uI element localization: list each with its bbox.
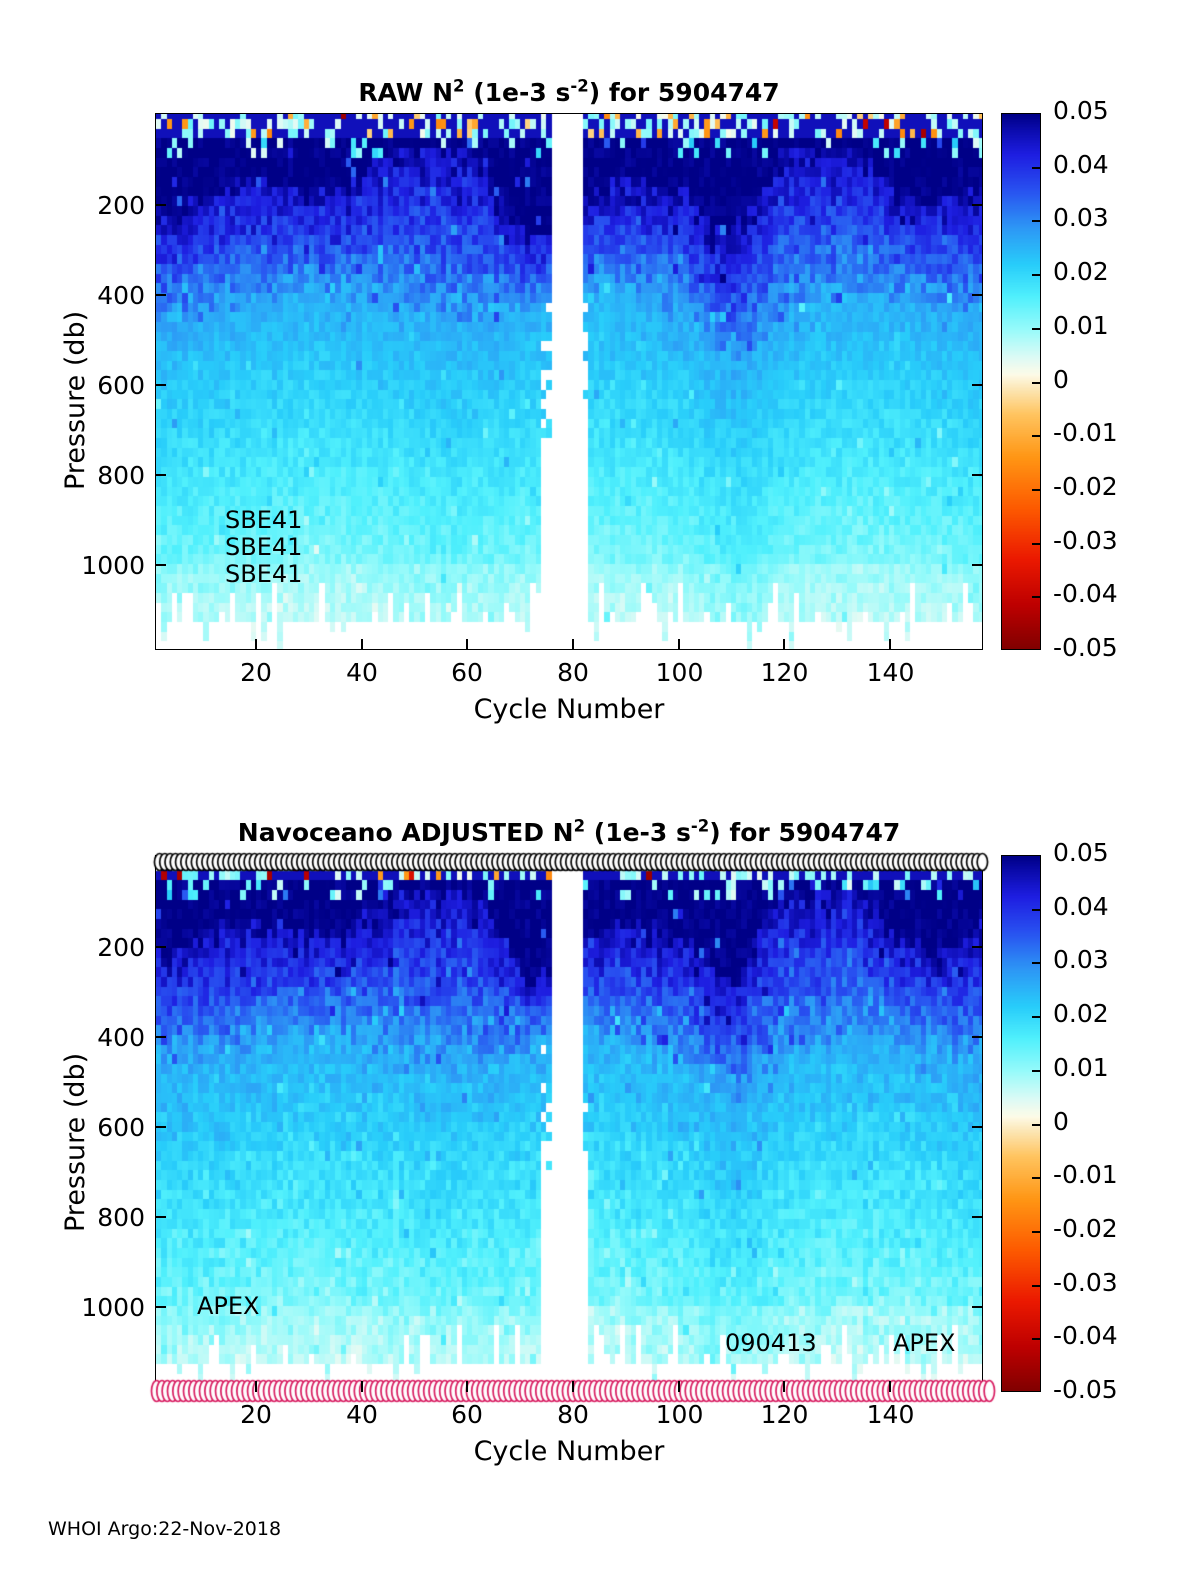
adj-ytick-mark-800 [155,1216,166,1218]
colorbar-tick-label: 0.03 [1053,945,1109,974]
colorbar-tick-mark [1032,909,1041,911]
adj-xtick-label-80: 80 [533,1400,613,1429]
colorbar-tick-mark [1032,1231,1041,1233]
colorbar-tick-label: 0.01 [1053,1053,1109,1082]
colorbar-tick-label: 0.05 [1053,838,1109,867]
adj-ytick-mark-right-200 [972,946,983,948]
colorbar-tick-mark [1032,962,1041,964]
adj-xtick-label-120: 120 [737,1400,832,1429]
colorbar-tick-label: 0.04 [1053,892,1109,921]
colorbar-tick-label: 0 [1053,1107,1069,1136]
figure-footer: WHOI Argo:22-Nov-2018 [48,1518,281,1540]
colorbar-tick-label: -0.03 [1053,1268,1118,1297]
adj-ytick-mark-right-800 [972,1216,983,1218]
adj-xtick-label-40: 40 [322,1400,402,1429]
colorbar-tick-label: -0.05 [1053,1375,1118,1404]
adj-ytick-mark-1000 [155,1306,166,1308]
colorbar-tick-mark [1032,1016,1041,1018]
adj-ytick-mark-right-400 [972,1036,983,1038]
adj-xtick-label-60: 60 [427,1400,507,1429]
adj-xtick-mark-60 [466,1381,468,1392]
colorbar-tick-mark [1032,1177,1041,1179]
colorbar-tick-mark [1032,1285,1041,1287]
adj-ytick-label-200: 200 [65,933,145,962]
colorbar-tick-mark [1032,1124,1041,1126]
colorbar-tick-label: -0.01 [1053,1160,1118,1189]
adj-xtick-mark-40 [361,1381,363,1392]
adj-xtick-mark-140 [889,1381,891,1392]
adjusted-panel-axes [155,855,983,1392]
adj-ytick-mark-600 [155,1126,166,1128]
adj-xtick-mark-100 [678,1381,680,1392]
adj-xtick-mark-80 [572,1381,574,1392]
adjusted-panel-title: Navoceano ADJUSTED N2 (1e-3 s-2) for 590… [155,818,983,847]
adj-ytick-mark-right-600 [972,1126,983,1128]
adj-xtick-mark-20 [255,1381,257,1392]
adjusted-heatmap [156,856,983,1392]
adj-xtick-mark-120 [783,1381,785,1392]
adj-ytick-label-400: 400 [65,1023,145,1052]
adj-xtick-label-140: 140 [843,1400,938,1429]
adj-ytick-mark-right-1000 [972,1306,983,1308]
colorbar-tick-mark [1032,1070,1041,1072]
figure-canvas: RAW N2 (1e-3 s-2) for 5904747 200 400 60… [0,0,1200,1575]
adj-ytick-mark-200 [155,946,166,948]
adj-ytick-label-1000: 1000 [50,1293,145,1322]
adj-ytick-mark-400 [155,1036,166,1038]
adjusted-panel: Navoceano ADJUSTED N2 (1e-3 s-2) for 590… [0,0,1200,1500]
adj-xtick-label-20: 20 [216,1400,296,1429]
top-qc-marker-band [151,851,991,873]
adj-xtick-label-100: 100 [632,1400,727,1429]
adj-xaxis-label: Cycle Number [155,1436,983,1467]
colorbar-tick-label: -0.04 [1053,1321,1118,1350]
colorbar-tick-mark [1032,1338,1041,1340]
colorbar-tick-label: -0.02 [1053,1214,1118,1243]
adj-yaxis-label: Pressure (db) [60,1053,91,1232]
colorbar-tick-label: 0.02 [1053,999,1109,1028]
